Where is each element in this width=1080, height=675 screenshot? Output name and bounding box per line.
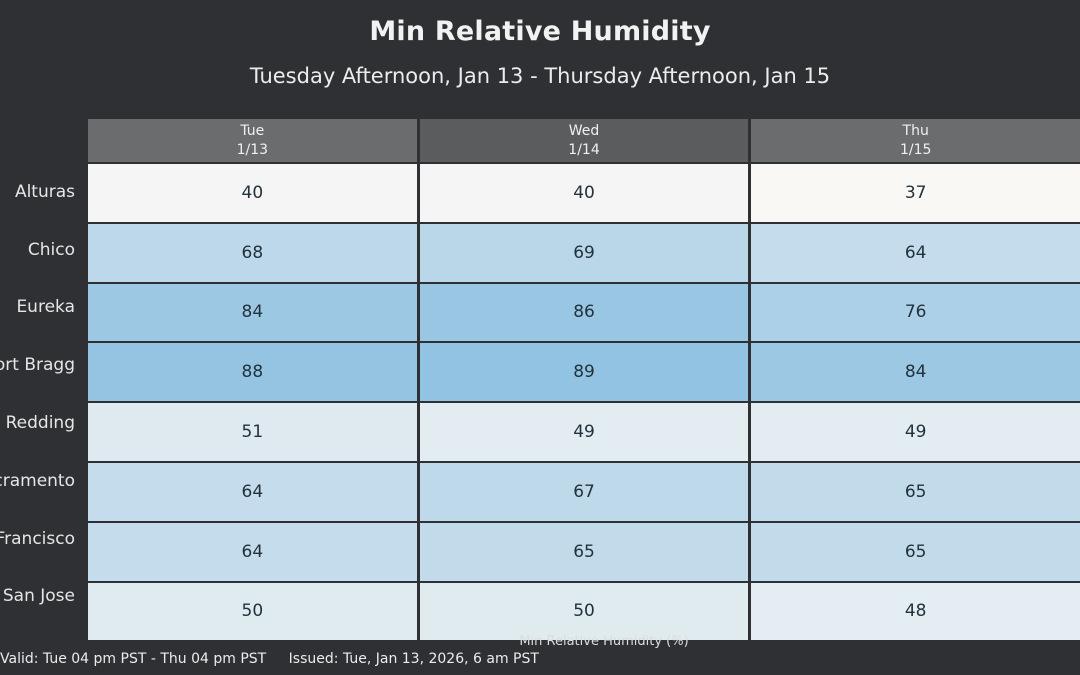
humidity-cell[interactable]: 40: [88, 164, 417, 222]
table-row: 646565: [88, 523, 1080, 581]
table-row: 646765: [88, 463, 1080, 521]
humidity-cell[interactable]: 49: [751, 403, 1080, 461]
footer-metadata: Valid: Tue 04 pm PST - Thu 04 pm PST Iss…: [0, 651, 539, 667]
table-row: 848676: [88, 284, 1080, 342]
humidity-cell[interactable]: 65: [420, 523, 749, 581]
column-header-date: 1/14: [568, 141, 599, 160]
humidity-cell[interactable]: 48: [751, 583, 1080, 641]
chart-title: Min Relative Humidity: [0, 16, 1080, 47]
table-body: 4040376869648486768889845149496467656465…: [88, 164, 1080, 640]
humidity-cell[interactable]: 69: [420, 224, 749, 282]
column-header-tue[interactable]: Tue1/13: [88, 119, 417, 162]
row-label: Fort Bragg: [0, 336, 82, 394]
row-label-column: AlturasChicoEurekaFort BraggReddingSacra…: [0, 163, 82, 625]
column-header-day: Thu: [903, 122, 929, 141]
row-label: Sacramento: [0, 452, 82, 510]
table-header-row: Tue1/13Wed1/14Thu1/15: [88, 119, 1080, 162]
issued-time-text: Issued: Tue, Jan 13, 2026, 6 am PST: [289, 651, 539, 667]
humidity-cell[interactable]: 89: [420, 343, 749, 401]
humidity-cell[interactable]: 84: [751, 343, 1080, 401]
column-header-date: 1/15: [900, 141, 931, 160]
column-header-thu[interactable]: Thu1/15: [751, 119, 1080, 162]
column-header-day: Tue: [240, 122, 264, 141]
row-label: San Francisco: [0, 510, 82, 568]
humidity-cell[interactable]: 49: [420, 403, 749, 461]
humidity-cell[interactable]: 86: [420, 284, 749, 342]
humidity-cell[interactable]: 76: [751, 284, 1080, 342]
column-header-wed[interactable]: Wed1/14: [420, 119, 749, 162]
humidity-cell[interactable]: 64: [751, 224, 1080, 282]
humidity-cell[interactable]: 64: [88, 523, 417, 581]
row-label: Eureka: [0, 279, 82, 337]
table-row: 404037: [88, 164, 1080, 222]
humidity-cell[interactable]: 84: [88, 284, 417, 342]
row-label: Alturas: [0, 163, 82, 221]
humidity-cell[interactable]: 64: [88, 463, 417, 521]
humidity-cell[interactable]: 67: [420, 463, 749, 521]
valid-period-text: Valid: Tue 04 pm PST - Thu 04 pm PST: [0, 651, 266, 667]
column-header-date: 1/13: [237, 141, 268, 160]
humidity-cell[interactable]: 68: [88, 224, 417, 282]
colorbar-axis-label: Min Relative Humidity (%): [0, 634, 1080, 649]
table-row: 686964: [88, 224, 1080, 282]
column-header-day: Wed: [569, 122, 600, 141]
humidity-cell[interactable]: 50: [420, 583, 749, 641]
humidity-cell[interactable]: 65: [751, 463, 1080, 521]
table-row: 514949: [88, 403, 1080, 461]
table-row: 888984: [88, 343, 1080, 401]
humidity-cell[interactable]: 65: [751, 523, 1080, 581]
table-row: 505048: [88, 583, 1080, 641]
humidity-cell[interactable]: 51: [88, 403, 417, 461]
row-label: San Jose: [0, 568, 82, 626]
humidity-cell[interactable]: 40: [420, 164, 749, 222]
humidity-cell[interactable]: 88: [88, 343, 417, 401]
humidity-heatmap-table: Tue1/13Wed1/14Thu1/15 404037686964848676…: [88, 119, 1080, 640]
row-label: Chico: [0, 221, 82, 279]
humidity-cell[interactable]: 37: [751, 164, 1080, 222]
row-label: Redding: [0, 394, 82, 452]
humidity-cell[interactable]: 50: [88, 583, 417, 641]
chart-subtitle: Tuesday Afternoon, Jan 13 - Thursday Aft…: [0, 64, 1080, 88]
